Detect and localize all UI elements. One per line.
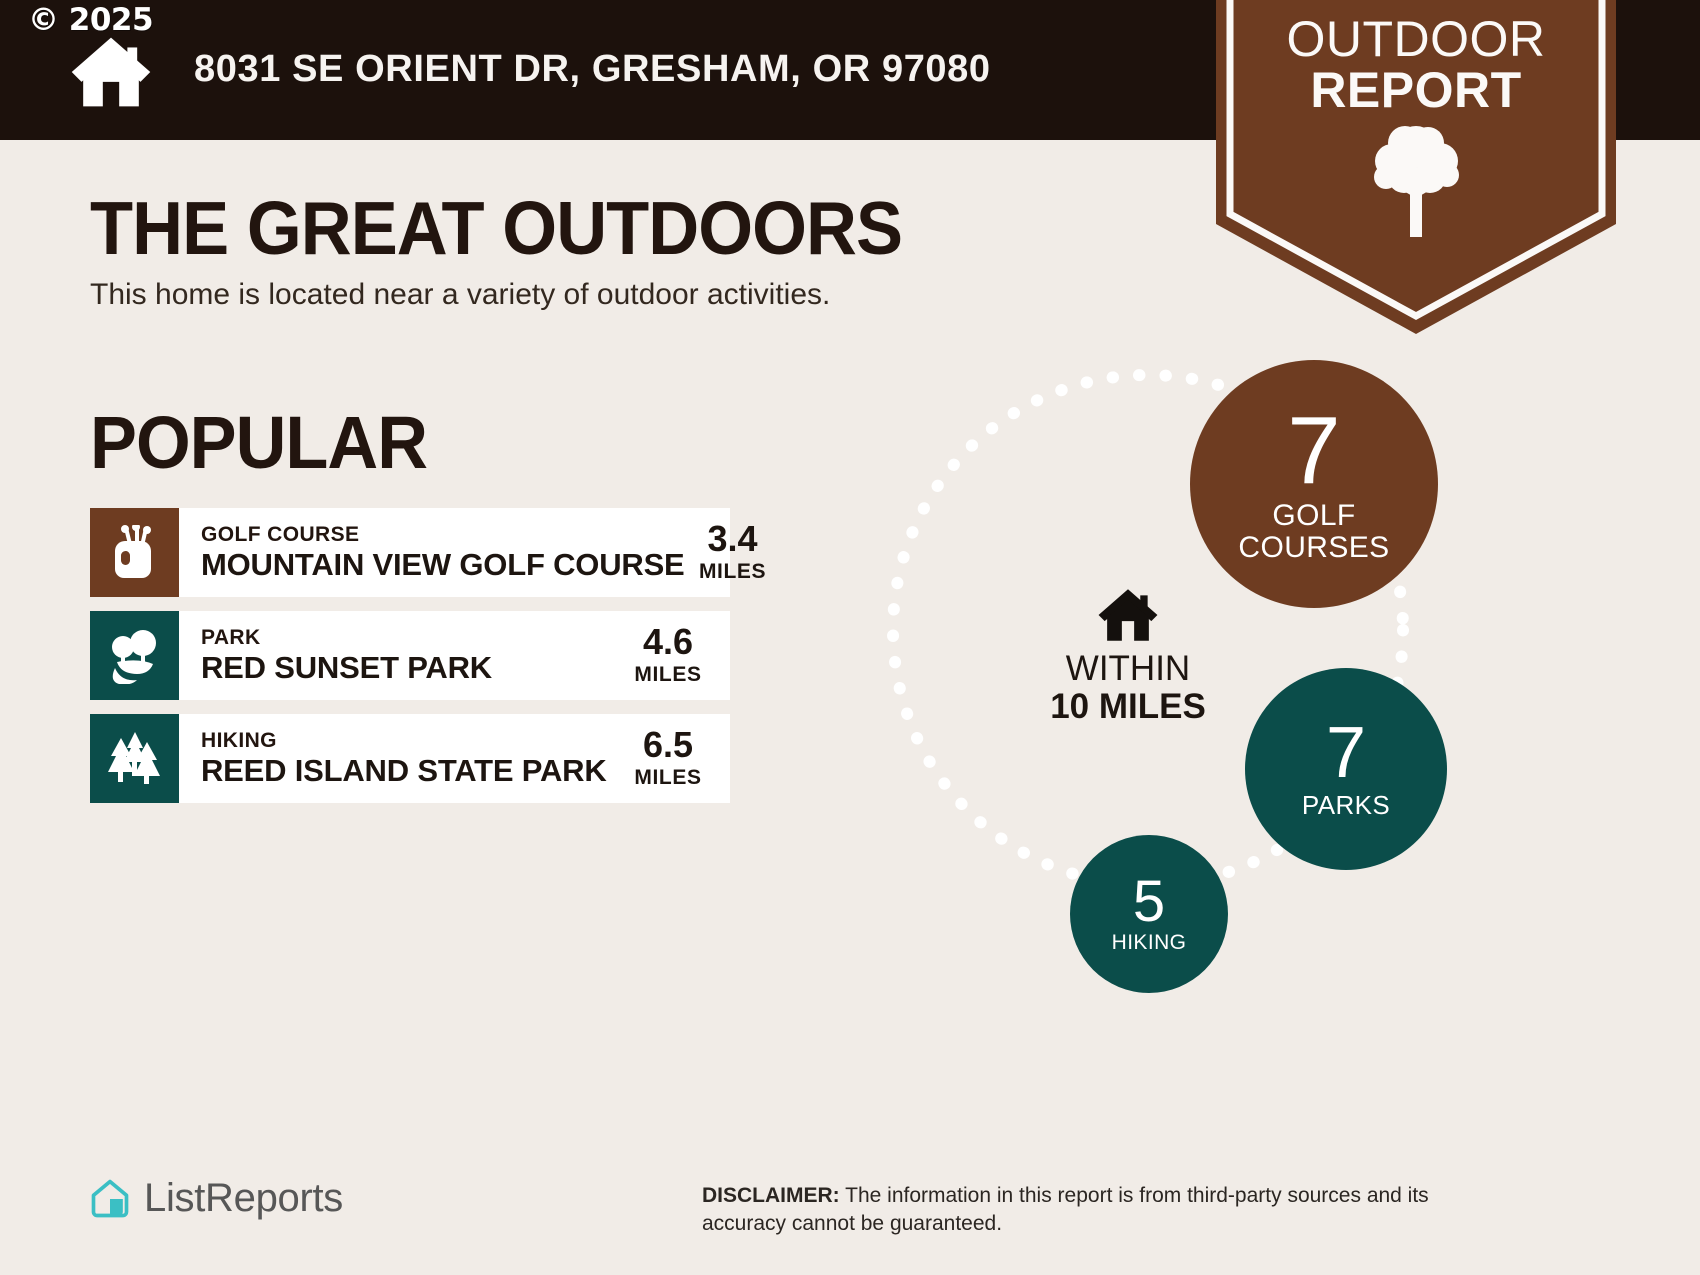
- stat-circle-golf-courses: 7 GOLF COURSES: [1190, 360, 1438, 608]
- list-item-distance-value: 6.5: [643, 727, 693, 763]
- list-item-distance-value: 3.4: [708, 521, 758, 557]
- stat-circle-parks: 7 PARKS: [1245, 668, 1447, 870]
- home-icon: [1097, 588, 1159, 642]
- listreports-house-icon: [88, 1177, 132, 1221]
- popular-list: GOLF COURSE MOUNTAIN VIEW GOLF COURSE 3.…: [90, 508, 730, 817]
- list-item-name: RED SUNSET PARK: [201, 650, 620, 686]
- listreports-logo-text: ListReports: [144, 1176, 343, 1221]
- list-item-icon-tile: [90, 508, 179, 597]
- list-item-distance-unit: MILES: [699, 560, 766, 584]
- list-item-body: GOLF COURSE MOUNTAIN VIEW GOLF COURSE: [179, 508, 685, 597]
- stat-label-parks: PARKS: [1302, 792, 1390, 819]
- list-item-category: HIKING: [201, 729, 620, 752]
- stat-value-hiking: 5: [1133, 874, 1165, 929]
- badge-shape: [1216, 0, 1616, 354]
- list-item[interactable]: GOLF COURSE MOUNTAIN VIEW GOLF COURSE 3.…: [90, 508, 730, 597]
- amenities-diagram: 7 GOLF COURSES 7 PARKS 5 HIKING WITHIN 1…: [830, 330, 1530, 1030]
- list-item-distance: 4.6 MILES: [620, 611, 730, 700]
- stat-circle-hiking: 5 HIKING: [1070, 835, 1228, 993]
- list-item-distance: 3.4 MILES: [685, 508, 795, 597]
- diagram-center-line2: 10 MILES: [1008, 688, 1248, 726]
- page-title: THE GREAT OUTDOORS: [90, 185, 902, 271]
- list-item-name: REED ISLAND STATE PARK: [201, 753, 620, 789]
- golf-bag-icon: [109, 525, 161, 581]
- list-item-distance-unit: MILES: [634, 766, 701, 790]
- stat-label-golf-courses: GOLF COURSES: [1238, 500, 1389, 563]
- list-item-icon-tile: [90, 611, 179, 700]
- outdoor-report-badge: OUTDOOR REPORT: [1216, 0, 1616, 354]
- list-item-name: MOUNTAIN VIEW GOLF COURSE: [201, 547, 685, 583]
- list-item-body: HIKING REED ISLAND STATE PARK: [179, 714, 620, 803]
- page-subtitle: This home is located near a variety of o…: [90, 278, 830, 312]
- pine-trees-icon: [107, 732, 163, 786]
- list-item-distance: 6.5 MILES: [620, 714, 730, 803]
- diagram-center-line1: WITHIN: [1008, 650, 1248, 688]
- stat-value-parks: 7: [1326, 719, 1366, 787]
- list-item-icon-tile: [90, 714, 179, 803]
- home-icon: [70, 36, 152, 108]
- listreports-logo[interactable]: ListReports: [88, 1176, 343, 1221]
- outdoor-report-page: 8031 SE ORIENT DR, GRESHAM, OR 97080 © 2…: [0, 0, 1700, 1275]
- copyright-watermark: © 2025: [28, 2, 153, 38]
- list-item-category: PARK: [201, 626, 620, 649]
- stat-value-golf-courses: 7: [1287, 405, 1340, 496]
- disclaimer-label: DISCLAIMER:: [702, 1184, 840, 1207]
- stat-label-golf-courses-line1: GOLF: [1272, 499, 1355, 532]
- list-item[interactable]: HIKING REED ISLAND STATE PARK 6.5 MILES: [90, 714, 730, 803]
- list-item-category: GOLF COURSE: [201, 523, 685, 546]
- list-item-body: PARK RED SUNSET PARK: [179, 611, 620, 700]
- park-tree-icon: [107, 628, 163, 684]
- stat-label-golf-courses-line2: COURSES: [1238, 531, 1389, 564]
- diagram-center: WITHIN 10 MILES: [1008, 588, 1248, 726]
- list-item[interactable]: PARK RED SUNSET PARK 4.6 MILES: [90, 611, 730, 700]
- list-item-distance-unit: MILES: [634, 663, 701, 687]
- section-heading-popular: POPULAR: [90, 400, 427, 485]
- disclaimer: DISCLAIMER: The information in this repo…: [702, 1182, 1502, 1239]
- stat-label-hiking: HIKING: [1112, 932, 1187, 954]
- list-item-distance-value: 4.6: [643, 624, 693, 660]
- property-address: 8031 SE ORIENT DR, GRESHAM, OR 97080: [194, 48, 991, 91]
